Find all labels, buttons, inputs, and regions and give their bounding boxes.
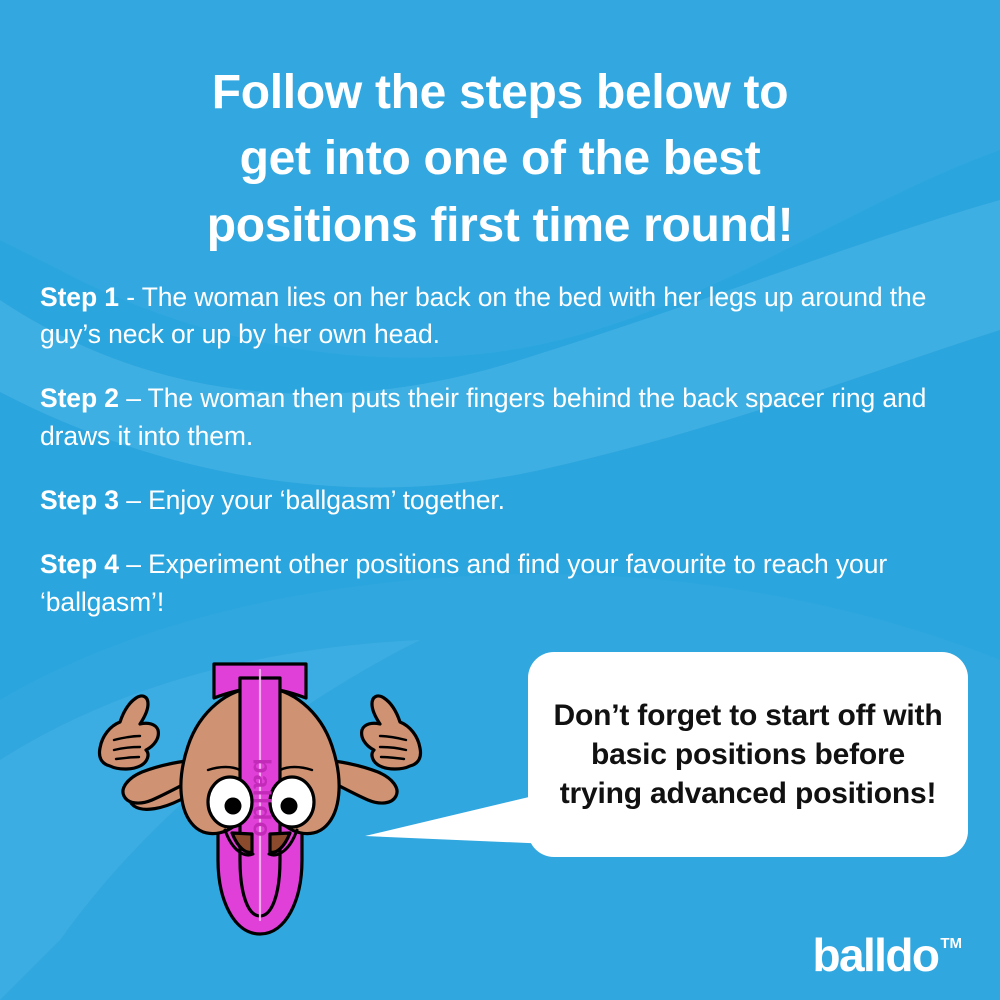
logo-wordmark: balldo (812, 932, 938, 978)
step-label: Step 2 (40, 383, 119, 413)
step-text: – Enjoy your ‘ballgasm’ together. (119, 485, 505, 515)
step-label: Step 3 (40, 485, 119, 515)
step-item: Step 3 – Enjoy your ‘ballgasm’ together. (40, 482, 935, 520)
step-label: Step 4 (40, 549, 119, 579)
speech-bubble: Don’t forget to start off with basic pos… (528, 652, 968, 857)
step-text: - The woman lies on her back on the bed … (40, 282, 926, 350)
page-title-line-1: Follow the steps below to (50, 60, 950, 126)
logo-trademark: TM (940, 936, 962, 951)
page-title: Follow the steps below to get into one o… (50, 60, 950, 259)
step-text: – The woman then puts their fingers behi… (40, 383, 926, 451)
speech-bubble-text: Don’t forget to start off with basic pos… (528, 696, 968, 813)
mascot-device-brand-text: balldo (247, 758, 275, 838)
step-text: – Experiment other positions and find yo… (40, 549, 887, 617)
step-label: Step 1 (40, 282, 119, 312)
step-item: Step 1 - The woman lies on her back on t… (40, 279, 935, 354)
step-item: Step 4 – Experiment other positions and … (40, 546, 935, 621)
poster-canvas: Follow the steps below to get into one o… (0, 0, 1000, 1000)
balldo-logo: balldo TM (812, 932, 962, 978)
step-item: Step 2 – The woman then puts their finge… (40, 380, 935, 455)
steps-list: Step 1 - The woman lies on her back on t… (40, 252, 935, 621)
page-title-line-2: get into one of the best (50, 126, 950, 192)
page-title-line-3: positions first time round! (50, 193, 950, 259)
balldo-mascot: balldo (80, 648, 440, 948)
